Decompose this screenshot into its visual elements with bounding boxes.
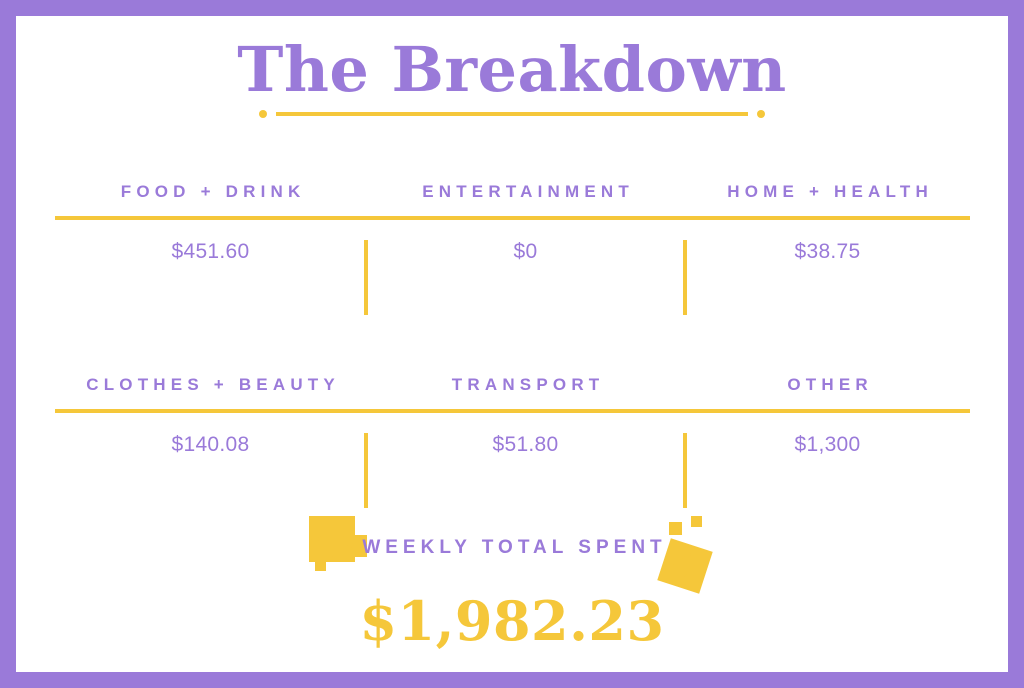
total-amount: $1,982.23 bbox=[16, 589, 1008, 653]
title-dot-left-icon bbox=[259, 110, 267, 118]
title-block: The Breakdown bbox=[16, 38, 1008, 118]
breakdown-row: CLOTHES + BEAUTY TRANSPORT OTHER $140.08… bbox=[55, 375, 970, 457]
category-label: CLOTHES + BEAUTY bbox=[55, 375, 366, 409]
breakdown-cell: ENTERTAINMENT bbox=[366, 182, 685, 216]
breakdown-row-grid: FOOD + DRINK ENTERTAINMENT HOME + HEALTH bbox=[55, 182, 970, 216]
category-label: OTHER bbox=[685, 375, 970, 409]
breakdown-cell: $140.08 bbox=[55, 413, 366, 457]
card-inner-surface: The Breakdown FOOD + DRINK ENTERTAINMENT… bbox=[16, 16, 1008, 672]
budget-breakdown-card: The Breakdown FOOD + DRINK ENTERTAINMENT… bbox=[0, 0, 1024, 688]
breakdown-cell: FOOD + DRINK bbox=[55, 182, 366, 216]
breakdown-cell: OTHER bbox=[685, 375, 970, 409]
category-amount: $1,300 bbox=[685, 413, 970, 457]
breakdown-cell: $451.60 bbox=[55, 220, 366, 264]
category-label: TRANSPORT bbox=[366, 375, 685, 409]
breakdown-values-grid: $140.08 $51.80 $1,300 bbox=[55, 413, 970, 457]
category-amount: $51.80 bbox=[366, 413, 685, 457]
breakdown-cell: TRANSPORT bbox=[366, 375, 685, 409]
breakdown-row: FOOD + DRINK ENTERTAINMENT HOME + HEALTH… bbox=[55, 182, 970, 264]
sparkle-small-icon bbox=[315, 560, 326, 571]
title-rule-line bbox=[276, 112, 748, 116]
breakdown-cell: $1,300 bbox=[685, 413, 970, 457]
title-divider bbox=[16, 110, 1008, 118]
category-amount: $451.60 bbox=[55, 220, 366, 264]
total-label-row: WEEKLY TOTAL SPENT bbox=[357, 511, 666, 585]
column-divider bbox=[683, 240, 687, 315]
category-label: HOME + HEALTH bbox=[685, 182, 970, 216]
category-amount: $140.08 bbox=[55, 413, 366, 457]
footer-total-block: WEEKLY TOTAL SPENT bbox=[16, 511, 1008, 653]
column-divider bbox=[364, 433, 368, 508]
title-dot-right-icon bbox=[757, 110, 765, 118]
page-title: The Breakdown bbox=[16, 38, 1008, 101]
column-divider bbox=[364, 240, 368, 315]
category-label: ENTERTAINMENT bbox=[366, 182, 685, 216]
sparkle-tiny-icon bbox=[691, 516, 702, 527]
breakdown-values-grid: $451.60 $0 $38.75 bbox=[55, 220, 970, 264]
category-amount: $0 bbox=[366, 220, 685, 264]
breakdown-cell: HOME + HEALTH bbox=[685, 182, 970, 216]
breakdown-cell: $51.80 bbox=[366, 413, 685, 457]
total-label: WEEKLY TOTAL SPENT bbox=[357, 537, 666, 559]
breakdown-row-grid: CLOTHES + BEAUTY TRANSPORT OTHER bbox=[55, 375, 970, 409]
category-amount: $38.75 bbox=[685, 220, 970, 264]
breakdown-cell: $0 bbox=[366, 220, 685, 264]
category-label: FOOD + DRINK bbox=[55, 182, 366, 216]
breakdown-cell: CLOTHES + BEAUTY bbox=[55, 375, 366, 409]
sparkle-small-icon bbox=[669, 522, 682, 535]
column-divider bbox=[683, 433, 687, 508]
breakdown-cell: $38.75 bbox=[685, 220, 970, 264]
